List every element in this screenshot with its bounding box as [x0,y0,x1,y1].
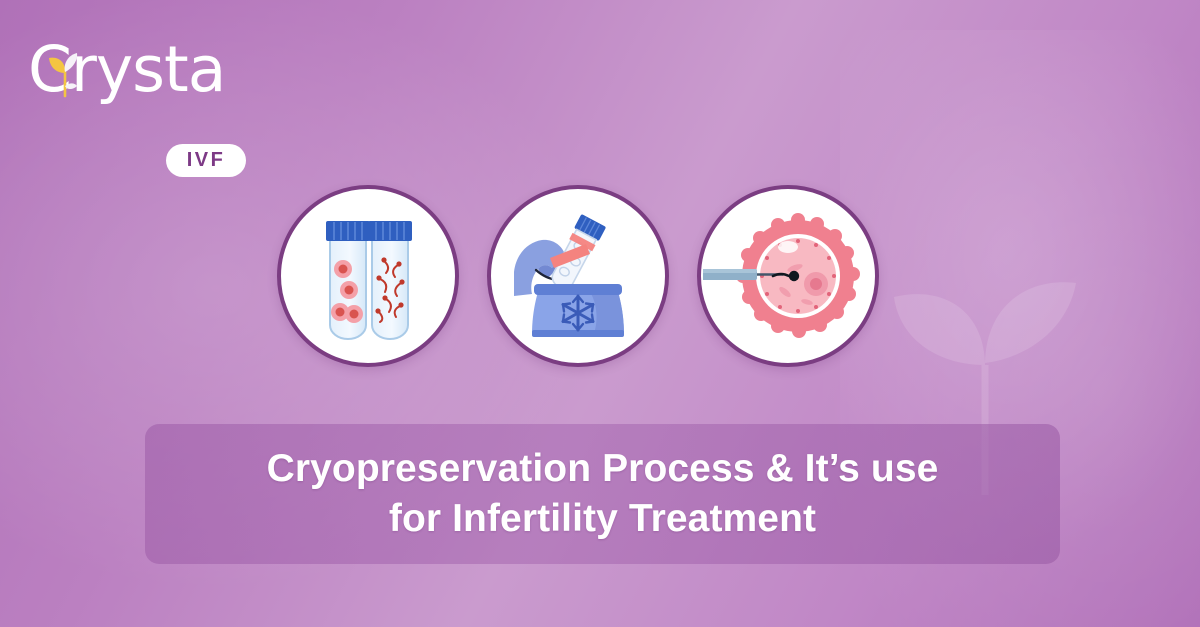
hero-banner: Crysta IVF [0,0,1200,627]
icon-circle-cryo-tank [487,185,669,367]
title-banner: Cryopreservation Process & It’s use for … [145,424,1060,564]
page-title: Cryopreservation Process & It’s use for … [243,444,963,544]
cryo-tank-icon [508,206,648,346]
ivf-badge-label: IVF [187,149,226,172]
icsi-egg-injection-icon [703,206,873,346]
flower-bud-icon [45,52,85,98]
page-title-line-1: Cryopreservation Process & It’s use [267,447,939,490]
icon-circle-test-tubes [277,185,459,367]
test-tubes-icon [308,211,428,341]
icon-circle-icsi-egg [697,185,879,367]
page-title-line-2: for Infertility Treatment [267,494,939,544]
brand-logo[interactable]: Crysta IVF [28,36,258,148]
logo-wordmark-wrap: Crysta [28,36,258,108]
ivf-badge: IVF [166,144,246,177]
